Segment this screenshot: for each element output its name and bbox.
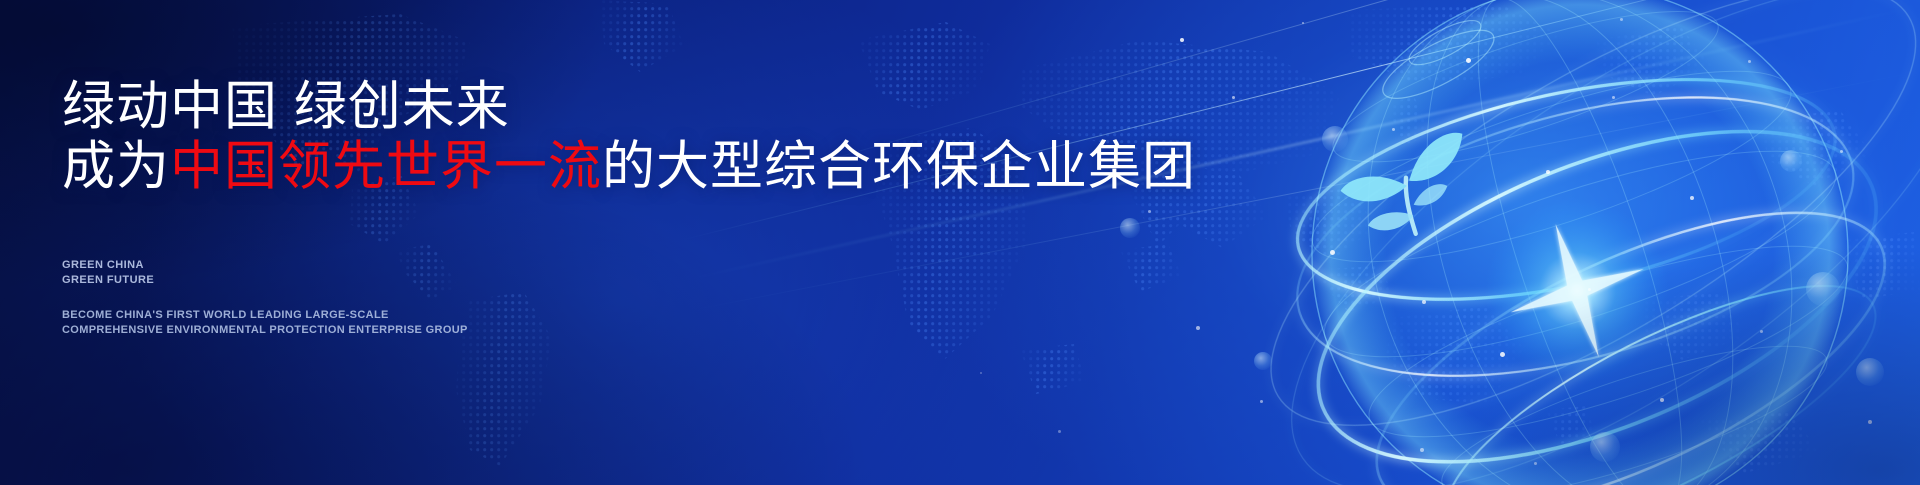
tagline-en-line-1: BECOME CHINA'S FIRST WORLD LEADING LARGE… — [62, 308, 468, 323]
headline-line-2-suffix: 的大型综合环保企业集团 — [602, 137, 1196, 196]
subtitle-en: GREEN CHINA GREEN FUTURE — [62, 258, 154, 288]
headline-line-2: 成为中国领先世界一流的大型综合环保企业集团 — [62, 138, 1196, 196]
headline-line-2-prefix: 成为 — [62, 137, 170, 196]
globe-wireframe — [1200, 0, 1920, 485]
sprout-icon — [1335, 129, 1489, 253]
headline-line-1: 绿动中国 绿创未来 — [62, 78, 1196, 136]
subtitle-en-line-1: GREEN CHINA — [62, 258, 154, 273]
banner-copy: 绿动中国 绿创未来 成为中国领先世界一流的大型综合环保企业集团 GREEN CH… — [62, 0, 1162, 485]
tagline-en: BECOME CHINA'S FIRST WORLD LEADING LARGE… — [62, 308, 468, 338]
headline-highlight: 中国领先世界一流 — [170, 137, 602, 196]
hero-banner: 绿动中国 绿创未来 成为中国领先世界一流的大型综合环保企业集团 GREEN CH… — [0, 0, 1920, 485]
page-title: 绿动中国 绿创未来 成为中国领先世界一流的大型综合环保企业集团 — [62, 78, 1196, 196]
subtitle-en-line-2: GREEN FUTURE — [62, 273, 154, 288]
tagline-en-line-2: COMPREHENSIVE ENVIRONMENTAL PROTECTION E… — [62, 323, 468, 338]
